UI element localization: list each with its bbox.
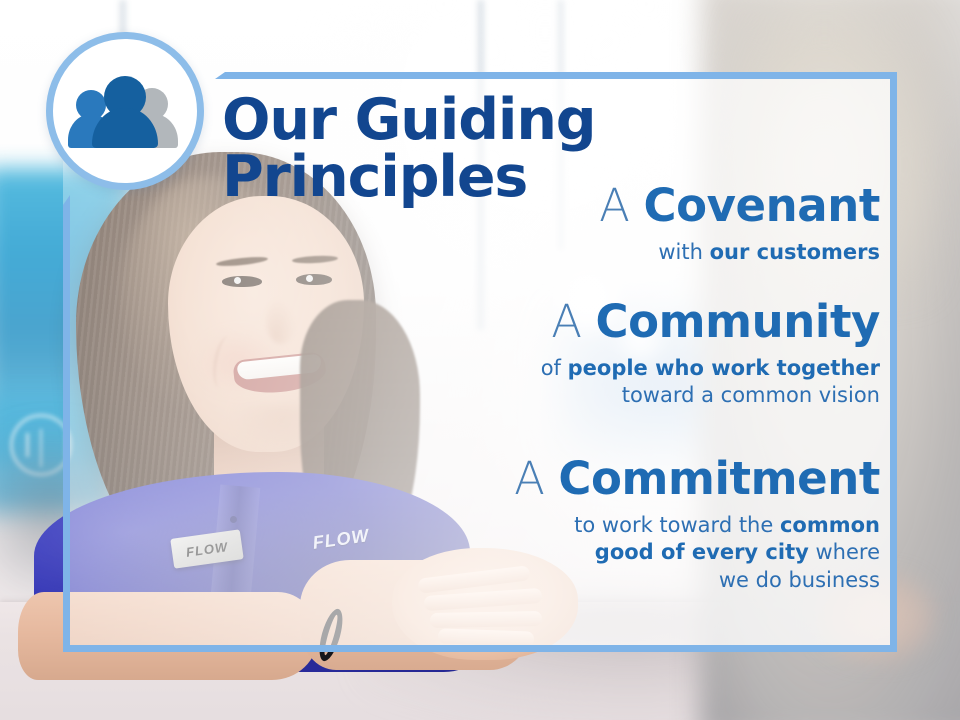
principle-subtext: to work toward the commongood of every c… [340,512,880,595]
eye-catchlight [234,277,241,284]
principle-subtext: of people who work togethertoward a comm… [340,355,880,410]
group-of-people-icon [46,32,204,190]
principle-community: A Community of people who work togethert… [340,298,880,410]
frame-border-top [215,72,897,79]
eye-catchlight [306,275,313,282]
finger [430,611,542,628]
principle-heading: A Community [340,298,880,346]
nose [266,298,296,344]
people-glyph [70,74,180,148]
polo-button [230,516,237,523]
name-badge-text: FLOW [185,540,229,559]
principle-commitment: A Commitment to work toward the commongo… [340,455,880,595]
frame-border-left [63,195,70,652]
principle-heading: A Covenant [340,182,880,230]
frame-border-right [890,72,897,652]
principle-heading: A Commitment [340,455,880,503]
guiding-principles-banner: FLOW FLOW Our Gu [0,0,960,720]
eye [296,274,332,285]
principle-covenant: A Covenant with our customers [340,182,880,266]
frame-border-bottom [63,645,897,652]
eye [222,276,262,287]
principle-subtext: with our customers [340,239,880,267]
